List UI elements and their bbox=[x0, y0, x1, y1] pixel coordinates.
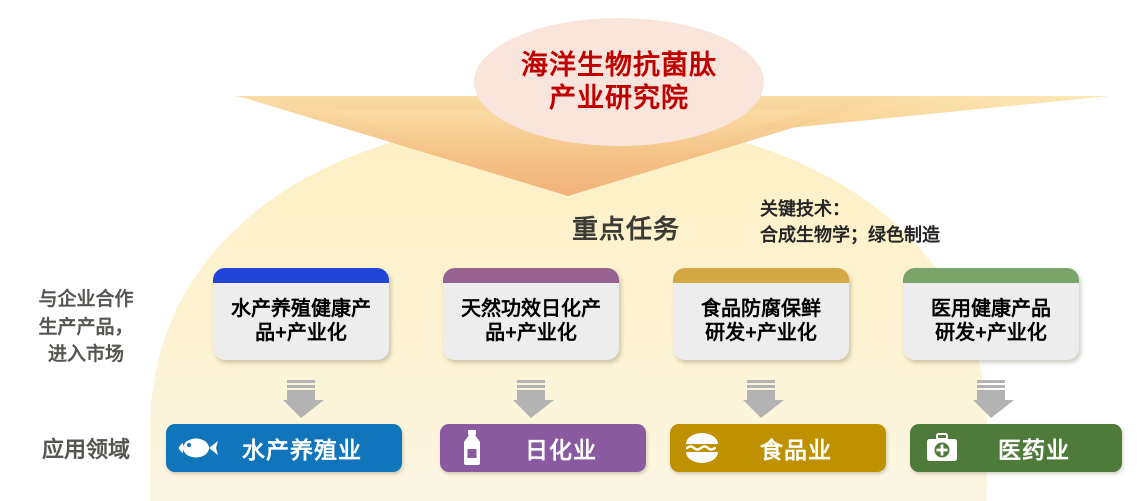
diagram-canvas: <(linearGradient)/> bbox=[0, 0, 1137, 501]
key-technology-block: 关键技术： 合成生物学；绿色制造 bbox=[760, 196, 940, 248]
industry-bar-aquaculture[interactable]: 水产养殖业 bbox=[166, 424, 402, 472]
task-card-accent-bar bbox=[673, 268, 849, 283]
task-card-accent-bar bbox=[443, 268, 619, 283]
task-card-line-2: 研发+产业化 bbox=[705, 321, 817, 345]
row-label-market-line3: 进入市场 bbox=[6, 341, 166, 369]
fish-icon bbox=[176, 426, 220, 470]
key-task-heading: 重点任务 bbox=[572, 209, 680, 246]
down-arrow-icon bbox=[738, 376, 784, 422]
down-arrow-icon bbox=[968, 376, 1014, 422]
industry-bar-daily-chemical[interactable]: 日化业 bbox=[440, 424, 646, 472]
title-line-2: 产业研究院 bbox=[549, 82, 689, 115]
burger-icon bbox=[680, 426, 724, 470]
title-line-1: 海洋生物抗菌肽 bbox=[521, 49, 717, 82]
task-card-body: 食品防腐保鲜 研发+产业化 bbox=[673, 283, 849, 360]
down-arrow-icon bbox=[278, 376, 324, 422]
task-card-line-2: 研发+产业化 bbox=[935, 321, 1047, 345]
industry-bar-pharmaceutical[interactable]: 医药业 bbox=[910, 424, 1122, 472]
task-card-aquaculture[interactable]: 水产养殖健康产 品+产业化 bbox=[213, 268, 389, 360]
industry-bar-food[interactable]: 食品业 bbox=[670, 424, 886, 472]
task-card-line-1: 医用健康产品 bbox=[931, 297, 1051, 321]
industry-bar-label: 水产养殖业 bbox=[220, 431, 402, 465]
institute-title-badge: 海洋生物抗菌肽 产业研究院 bbox=[474, 18, 764, 146]
down-arrow-icon bbox=[508, 376, 554, 422]
key-technology-label: 关键技术： bbox=[760, 196, 940, 222]
task-card-daily-chemical[interactable]: 天然功效日化产 品+产业化 bbox=[443, 268, 619, 360]
row-label-market-line2: 生产产品， bbox=[6, 314, 166, 342]
medkit-icon bbox=[920, 426, 964, 470]
industry-bar-label: 食品业 bbox=[724, 431, 886, 465]
task-card-line-2: 品+产业化 bbox=[255, 321, 347, 345]
task-card-line-1: 食品防腐保鲜 bbox=[701, 297, 821, 321]
task-card-line-2: 品+产业化 bbox=[485, 321, 577, 345]
industry-bar-label: 医药业 bbox=[964, 431, 1122, 465]
row-label-market: 与企业合作 生产产品， 进入市场 bbox=[6, 286, 166, 369]
task-card-body: 水产养殖健康产 品+产业化 bbox=[213, 283, 389, 360]
industry-bar-label: 日化业 bbox=[494, 431, 646, 465]
bottle-icon bbox=[450, 426, 494, 470]
task-card-accent-bar bbox=[903, 268, 1079, 283]
row-label-market-line1: 与企业合作 bbox=[6, 286, 166, 314]
task-card-medical-health[interactable]: 医用健康产品 研发+产业化 bbox=[903, 268, 1079, 360]
task-card-line-1: 天然功效日化产 bbox=[461, 297, 601, 321]
task-card-accent-bar bbox=[213, 268, 389, 283]
task-card-food-preservation[interactable]: 食品防腐保鲜 研发+产业化 bbox=[673, 268, 849, 360]
row-label-application-domain: 应用领域 bbox=[6, 432, 166, 464]
task-card-body: 天然功效日化产 品+产业化 bbox=[443, 283, 619, 360]
task-card-body: 医用健康产品 研发+产业化 bbox=[903, 283, 1079, 360]
key-technology-value: 合成生物学；绿色制造 bbox=[760, 222, 940, 248]
task-card-line-1: 水产养殖健康产 bbox=[231, 297, 371, 321]
